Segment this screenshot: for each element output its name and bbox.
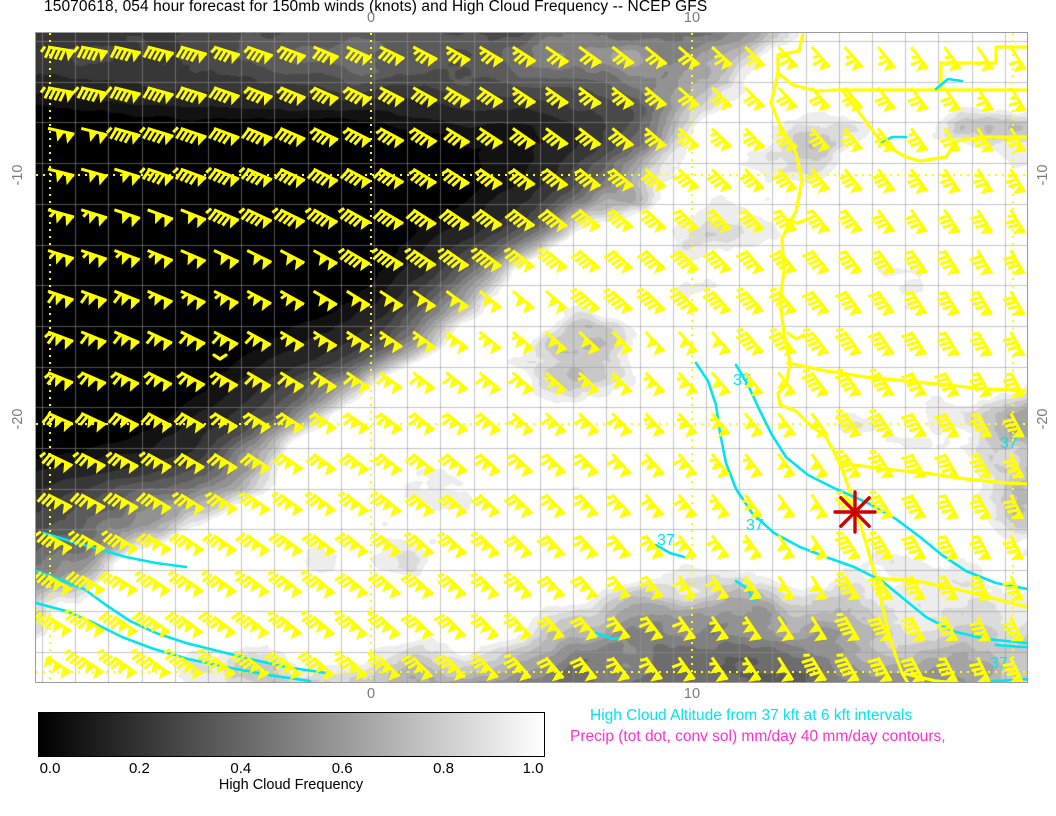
- wind-barb: [69, 531, 105, 555]
- wind-barb: [277, 88, 305, 106]
- wind-barb: [604, 289, 632, 314]
- wind-barb: [278, 373, 303, 394]
- wind-barb: [181, 291, 206, 310]
- wind-barb: [970, 535, 990, 560]
- wind-barb: [313, 47, 338, 66]
- wind-barb: [512, 332, 534, 355]
- wind-barb: [937, 251, 959, 275]
- map-plot-area[interactable]: 3737373737: [35, 32, 1028, 683]
- wind-barb: [901, 454, 925, 479]
- wind-barb: [480, 47, 503, 68]
- wind-barb: [475, 454, 500, 477]
- wind-barb: [678, 47, 699, 70]
- wind-barb: [911, 47, 928, 71]
- wind-barb: [937, 617, 957, 642]
- map-canvas-container: 3737373737: [36, 33, 1027, 682]
- wind-barb: [901, 413, 925, 437]
- wind-barb: [245, 332, 270, 352]
- wind-barb: [301, 571, 334, 599]
- wind-barb: [537, 658, 563, 682]
- wind-barb: [471, 495, 499, 518]
- wind-barb: [244, 88, 272, 106]
- wind-barb: [970, 373, 991, 398]
- wind-barb: [707, 210, 731, 233]
- wind-barb: [706, 535, 729, 559]
- wind-barb: [776, 576, 794, 600]
- wind-barb: [471, 574, 498, 600]
- wind-barb: [335, 652, 367, 681]
- wind-barb: [413, 291, 435, 313]
- wind-barb: [970, 251, 991, 276]
- wind-barb: [806, 210, 829, 234]
- wind-barb: [839, 210, 862, 234]
- wind-barb: [177, 373, 205, 393]
- wind-barb: [904, 210, 926, 234]
- wind-barb: [199, 612, 236, 639]
- wind-barb: [438, 454, 466, 477]
- wind-barb: [310, 128, 338, 147]
- wind-barb: [937, 332, 958, 356]
- wind-barb: [368, 611, 400, 640]
- wind-barb: [743, 535, 761, 559]
- wind-barb: [944, 47, 961, 71]
- wind-barb: [242, 128, 272, 146]
- wind-barb: [504, 655, 531, 681]
- wind-barb: [802, 330, 828, 357]
- wind-barb: [405, 454, 434, 476]
- wind-barb: [509, 373, 534, 396]
- colorbar-tick-4: 0.8: [433, 760, 454, 777]
- wind-barb: [114, 291, 139, 309]
- wind-barb: [173, 127, 206, 145]
- wind-barb: [709, 658, 727, 682]
- wind-barb: [339, 454, 368, 476]
- coastline-9: [788, 333, 804, 339]
- wind-barb: [802, 655, 826, 682]
- wind-barb: [45, 332, 73, 350]
- wind-barb: [776, 658, 793, 682]
- wind-barb: [579, 88, 601, 110]
- colorbar-gradient: [38, 712, 545, 757]
- wind-barb: [41, 47, 75, 62]
- wind-barb: [743, 454, 762, 478]
- y-tick-left-1: -20: [10, 409, 26, 430]
- wind-barb: [245, 373, 270, 394]
- wind-barb: [401, 655, 432, 681]
- wind-barb: [744, 373, 762, 397]
- wind-barb: [538, 210, 567, 232]
- wind-barb: [1003, 332, 1024, 357]
- wind-barb: [1003, 617, 1023, 642]
- wind-barb: [575, 169, 601, 191]
- wind-barb: [809, 535, 826, 559]
- wind-barb: [81, 291, 106, 309]
- wind-barb: [377, 373, 402, 395]
- wind-barb: [970, 210, 992, 234]
- wind-barb: [168, 572, 203, 598]
- wind-barb: [343, 88, 371, 107]
- wind-barb: [546, 291, 567, 314]
- wind-barb: [806, 169, 829, 193]
- wind-barb: [637, 251, 665, 274]
- wind-barb: [901, 576, 924, 601]
- wind-barb: [71, 493, 105, 515]
- wind-barb: [936, 658, 956, 683]
- wind-barb: [413, 332, 435, 354]
- wind-barb: [812, 47, 830, 71]
- wind-barb: [206, 209, 239, 229]
- wind-barb: [645, 88, 667, 111]
- wind-barb: [81, 128, 107, 144]
- wind-barb: [777, 413, 795, 437]
- wind-barb: [40, 453, 72, 474]
- wind-barb: [401, 615, 432, 640]
- wind-barb: [742, 617, 760, 641]
- wind-barb: [372, 493, 401, 517]
- wind-barb: [314, 251, 338, 271]
- wind-barb: [736, 289, 763, 315]
- wind-barb: [74, 87, 108, 103]
- wind-barb: [268, 571, 302, 598]
- wind-barb: [969, 658, 989, 683]
- coastline-6: [840, 463, 1027, 485]
- wind-barb: [835, 574, 859, 601]
- wind-barb: [275, 128, 305, 147]
- wind-barb: [368, 652, 399, 681]
- wind-barb: [477, 88, 502, 109]
- wind-barb: [769, 330, 795, 356]
- wind-barb: [471, 655, 498, 681]
- wind-barb: [239, 168, 272, 188]
- wind-barb: [76, 413, 106, 432]
- wind-barb: [207, 454, 237, 475]
- wind-barb: [609, 128, 634, 150]
- contour-label-3: 37: [746, 517, 764, 534]
- wind-barb: [607, 413, 631, 436]
- wind-barb: [835, 291, 861, 315]
- wind-barb: [809, 617, 826, 641]
- wind-barb: [144, 47, 174, 63]
- wind-barb: [937, 210, 959, 234]
- wind-barb: [776, 495, 794, 519]
- wind-barb: [541, 495, 565, 518]
- wind-barb: [904, 291, 926, 315]
- wind-barb: [372, 249, 403, 272]
- x-tick-bottom-1: 10: [684, 686, 700, 702]
- wind-barb: [835, 614, 859, 641]
- wind-barb: [510, 128, 535, 150]
- wind-barb: [545, 373, 566, 396]
- wind-barb: [607, 495, 631, 519]
- wind-barb: [809, 128, 829, 152]
- wind-barb: [546, 332, 566, 355]
- y-tick-left-0: -10: [10, 165, 26, 186]
- wind-barb: [644, 373, 664, 397]
- wind-barb: [439, 210, 468, 231]
- wind-barb: [703, 289, 730, 315]
- wind-barb: [272, 208, 304, 229]
- wind-barb: [740, 210, 764, 234]
- wind-barb: [607, 535, 630, 559]
- coastline-10: [214, 355, 226, 359]
- wind-barb: [114, 332, 139, 351]
- wind-barb: [314, 291, 337, 312]
- wind-barb: [538, 249, 567, 273]
- wind-barb: [99, 572, 137, 597]
- wind-barb: [310, 88, 338, 107]
- wind-barb: [678, 128, 699, 151]
- wind-barb: [970, 454, 991, 479]
- wind-barb: [306, 454, 335, 476]
- wind-barb: [240, 454, 269, 475]
- wind-barb: [970, 413, 991, 438]
- legend-cloud-altitude: High Cloud Altitude from 37 kft at 6 kft…: [590, 707, 912, 725]
- wind-barb: [411, 88, 436, 108]
- wind-barb: [571, 251, 599, 274]
- wind-barb: [374, 169, 404, 189]
- wind-barb: [443, 373, 468, 395]
- wind-barb: [673, 454, 696, 478]
- wind-barb: [235, 571, 269, 598]
- wind-barb: [272, 493, 302, 517]
- wind-barb: [81, 332, 106, 350]
- wind-barb: [777, 88, 797, 112]
- wind-barb: [868, 332, 893, 356]
- wind-barb: [712, 332, 730, 356]
- wind-barb: [106, 453, 138, 474]
- wind-barb: [611, 373, 631, 396]
- page-title: 15070618, 054 hour forecast for 150mb wi…: [44, 0, 1044, 16]
- wind-barb: [504, 495, 532, 518]
- contour-label-4: 37: [657, 532, 675, 549]
- colorbar-title: High Cloud Frequency: [219, 777, 363, 793]
- wind-barb: [48, 169, 74, 185]
- wind-barb: [508, 454, 533, 477]
- wind-barb: [48, 210, 74, 227]
- wind-barb: [438, 533, 466, 558]
- wind-barb: [280, 332, 303, 353]
- cloud-altitude-contour-10: [996, 645, 1027, 647]
- wind-barb: [802, 251, 828, 275]
- wind-barb: [612, 332, 631, 355]
- wind-barb: [232, 652, 268, 680]
- wind-barb: [114, 210, 140, 227]
- wind-barb: [901, 373, 925, 397]
- wind-barb: [674, 210, 698, 233]
- wind-barb: [38, 493, 72, 514]
- wind-barb: [314, 332, 337, 353]
- wind-barb: [570, 617, 596, 641]
- wind-barb: [343, 128, 371, 148]
- wind-barb: [298, 652, 334, 680]
- wind-barb: [606, 658, 629, 682]
- wind-barb: [742, 658, 760, 682]
- wind-barb: [139, 453, 171, 475]
- wind-barb: [302, 534, 335, 558]
- wind-barb: [475, 169, 502, 190]
- wind-barb: [537, 576, 564, 600]
- wind-barb: [901, 495, 925, 520]
- wind-barb: [740, 169, 764, 193]
- wind-barb: [209, 128, 239, 146]
- wind-barb: [608, 210, 633, 233]
- wind-barb: [181, 251, 206, 270]
- wind-barb: [744, 88, 765, 111]
- wind-barb: [434, 655, 465, 681]
- colorbar-tick-0: 0.0: [40, 760, 61, 777]
- wind-barb: [537, 535, 564, 559]
- wind-barb: [604, 251, 632, 274]
- wind-barb: [1006, 210, 1025, 235]
- wind-barb: [471, 533, 499, 558]
- wind-barb: [401, 574, 433, 599]
- wind-barb: [301, 612, 334, 640]
- x-tick-top-1: 10: [684, 10, 700, 26]
- wind-barb: [232, 612, 269, 639]
- wind-barb: [347, 291, 370, 312]
- wind-barb: [677, 413, 697, 437]
- wind-barb: [247, 291, 271, 311]
- wind-barb: [640, 454, 663, 478]
- wind-barb: [410, 373, 435, 395]
- wind-barb: [773, 169, 797, 193]
- wind-barb: [908, 169, 927, 193]
- wind-barb: [471, 615, 498, 641]
- wind-barb: [677, 373, 697, 397]
- wind-barb: [438, 495, 466, 518]
- wind-barb: [835, 329, 860, 356]
- wind-barb: [170, 534, 204, 557]
- wind-barb: [341, 169, 371, 189]
- colorbar-tick-3: 0.6: [332, 760, 353, 777]
- wind-barb: [809, 495, 827, 519]
- wind-barb: [148, 291, 173, 310]
- wind-barb: [36, 572, 71, 597]
- wind-barb: [574, 413, 598, 436]
- wind-barb: [344, 373, 369, 394]
- wind-barb: [868, 533, 892, 560]
- wind-barb: [140, 168, 173, 186]
- wind-barb: [901, 332, 926, 356]
- wind-barb: [81, 251, 107, 268]
- wind-barb: [148, 210, 173, 228]
- wind-barb: [144, 373, 172, 393]
- wind-barb: [211, 47, 240, 64]
- wind-barb: [434, 615, 465, 641]
- wind-barb: [109, 413, 139, 433]
- wind-barb: [335, 611, 367, 639]
- wind-barb: [276, 413, 303, 434]
- wind-barb: [339, 249, 371, 271]
- wind-barb: [802, 291, 828, 315]
- wind-barb: [937, 291, 959, 315]
- wind-barb: [736, 251, 763, 275]
- wind-barb: [107, 128, 140, 145]
- wind-barb: [711, 373, 729, 397]
- wind-barb: [835, 533, 859, 560]
- wind-barb: [607, 576, 630, 600]
- wind-barb: [142, 413, 172, 433]
- wind-barb: [703, 251, 730, 275]
- wind-barb: [641, 169, 665, 192]
- wind-barb: [505, 210, 534, 232]
- wind-barb: [644, 413, 664, 437]
- wind-barb: [477, 128, 502, 149]
- wind-barb: [1006, 169, 1025, 194]
- wind-barb: [934, 413, 958, 438]
- wind-barb: [111, 47, 141, 62]
- wind-barb: [239, 493, 270, 516]
- wind-barb: [444, 88, 469, 109]
- wind-barb: [571, 289, 600, 314]
- wind-barb: [368, 574, 400, 599]
- wind-barb: [347, 332, 370, 353]
- wind-barb: [140, 128, 173, 146]
- wind-barb: [872, 210, 895, 234]
- colorbar-tick-1: 0.2: [129, 760, 150, 777]
- wind-barb: [273, 454, 302, 475]
- wind-barb: [838, 251, 861, 275]
- wind-barb: [612, 88, 634, 110]
- wind-barb: [81, 169, 107, 185]
- wind-barb: [379, 88, 404, 108]
- wind-barb: [937, 495, 958, 520]
- wind-barb: [346, 47, 371, 66]
- wind-barb: [236, 534, 269, 558]
- wind-barb: [672, 658, 694, 682]
- wind-barb: [868, 658, 891, 683]
- wind-barb: [175, 413, 205, 433]
- wind-barb: [65, 650, 104, 679]
- wind-barb: [576, 128, 601, 150]
- wind-barb: [744, 413, 762, 437]
- wind-barb: [372, 454, 401, 476]
- wind-barb: [339, 208, 371, 230]
- wind-barb: [380, 332, 402, 354]
- wind-barb: [571, 210, 600, 233]
- wind-barb: [78, 373, 106, 392]
- wind-barb: [776, 617, 793, 641]
- wind-barb: [710, 495, 729, 519]
- wind-barb: [940, 169, 959, 193]
- wind-barb: [202, 571, 236, 598]
- wind-barb: [269, 534, 302, 558]
- wind-barb: [578, 373, 599, 396]
- wind-barb: [570, 658, 596, 682]
- wind-barb: [868, 370, 893, 397]
- wind-barb: [438, 574, 466, 599]
- wind-barb: [513, 88, 536, 109]
- wind-barb: [206, 168, 239, 187]
- wind-barb: [335, 533, 367, 557]
- wind-barb: [48, 128, 74, 143]
- wind-barb: [214, 251, 239, 270]
- colorbar-tick-5: 1.0: [523, 760, 544, 777]
- wind-barb: [409, 169, 436, 190]
- x-tick-bottom-0: 0: [367, 686, 375, 702]
- wind-barb: [504, 249, 534, 273]
- wind-barb: [574, 495, 598, 519]
- wind-barb: [743, 495, 762, 519]
- wind-barb: [513, 291, 534, 313]
- wind-barb: [446, 47, 470, 67]
- wind-barb: [405, 495, 433, 518]
- wind-barb: [409, 413, 435, 435]
- wind-barb: [446, 291, 468, 313]
- station-marker[interactable]: [835, 492, 875, 532]
- wind-barb: [413, 47, 437, 67]
- legend-precip: Precip (tot dot, conv sol) mm/day 40 mm/…: [570, 728, 946, 746]
